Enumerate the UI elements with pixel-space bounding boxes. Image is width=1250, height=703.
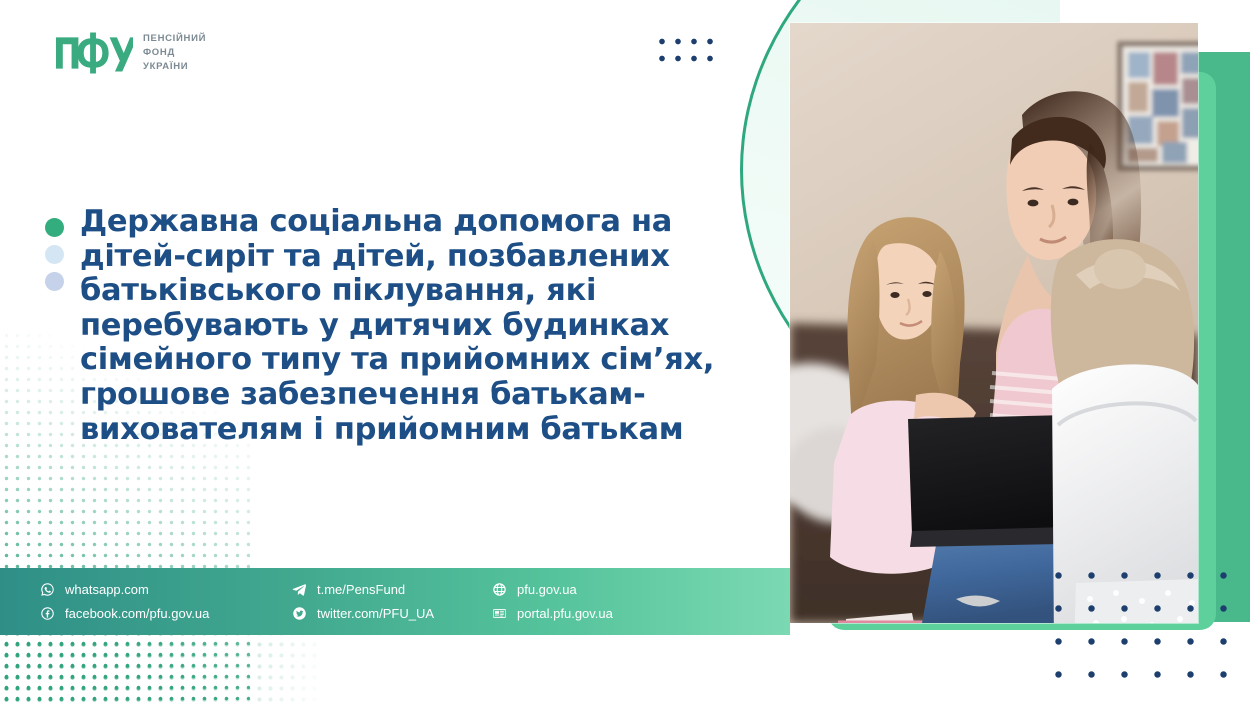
dot-grid-bottom-right bbox=[1040, 566, 1240, 691]
contact-whatsapp-label: whatsapp.com bbox=[65, 583, 149, 596]
facebook-icon bbox=[40, 606, 55, 621]
globe-icon bbox=[492, 582, 507, 597]
contact-footer: whatsapp.com facebook.com/pfu.gov.ua t.m… bbox=[0, 568, 790, 635]
contact-whatsapp[interactable]: whatsapp.com bbox=[40, 582, 292, 597]
dot-grid-top bbox=[654, 33, 718, 69]
twitter-icon bbox=[292, 606, 307, 621]
pfu-logo-mark-icon bbox=[55, 28, 133, 78]
contact-facebook[interactable]: facebook.com/pfu.gov.ua bbox=[40, 606, 292, 621]
page-title: Державна соціальна допомога на дітей-сир… bbox=[80, 205, 765, 447]
slide-canvas: ПЕНСІЙНИЙ ФОНД УКРАЇНИ Державна соціальн… bbox=[0, 0, 1250, 703]
portal-card-icon bbox=[492, 606, 507, 621]
contact-telegram[interactable]: t.me/PensFund bbox=[292, 582, 492, 597]
bullet-green bbox=[45, 218, 64, 237]
contact-portal[interactable]: portal.pfu.gov.ua bbox=[492, 606, 692, 621]
contact-website[interactable]: pfu.gov.ua bbox=[492, 582, 692, 597]
bullet-stack bbox=[45, 205, 64, 447]
pfu-logo-subtitle: ПЕНСІЙНИЙ ФОНД УКРАЇНИ bbox=[143, 32, 206, 73]
contact-facebook-label: facebook.com/pfu.gov.ua bbox=[65, 607, 209, 620]
contact-twitter[interactable]: twitter.com/PFU_UA bbox=[292, 606, 492, 621]
contact-column-web: pfu.gov.ua portal.pfu.gov.ua bbox=[492, 582, 692, 621]
telegram-icon bbox=[292, 582, 307, 597]
bullet-light-blue bbox=[45, 245, 64, 264]
halftone-bottom-left-strip bbox=[0, 628, 320, 703]
contact-portal-label: portal.pfu.gov.ua bbox=[517, 607, 613, 620]
contact-column-social: whatsapp.com facebook.com/pfu.gov.ua bbox=[40, 582, 292, 621]
headline-block: Державна соціальна допомога на дітей-сир… bbox=[45, 205, 765, 447]
bullet-lavender bbox=[45, 272, 64, 291]
family-photo-illustration bbox=[790, 23, 1198, 623]
contact-website-label: pfu.gov.ua bbox=[517, 583, 577, 596]
whatsapp-icon bbox=[40, 582, 55, 597]
pfu-logo[interactable]: ПЕНСІЙНИЙ ФОНД УКРАЇНИ bbox=[55, 28, 206, 78]
contact-twitter-label: twitter.com/PFU_UA bbox=[317, 607, 434, 620]
family-photo bbox=[790, 23, 1198, 623]
contact-telegram-label: t.me/PensFund bbox=[317, 583, 405, 596]
contact-column-messaging: t.me/PensFund twitter.com/PFU_UA bbox=[292, 582, 492, 621]
